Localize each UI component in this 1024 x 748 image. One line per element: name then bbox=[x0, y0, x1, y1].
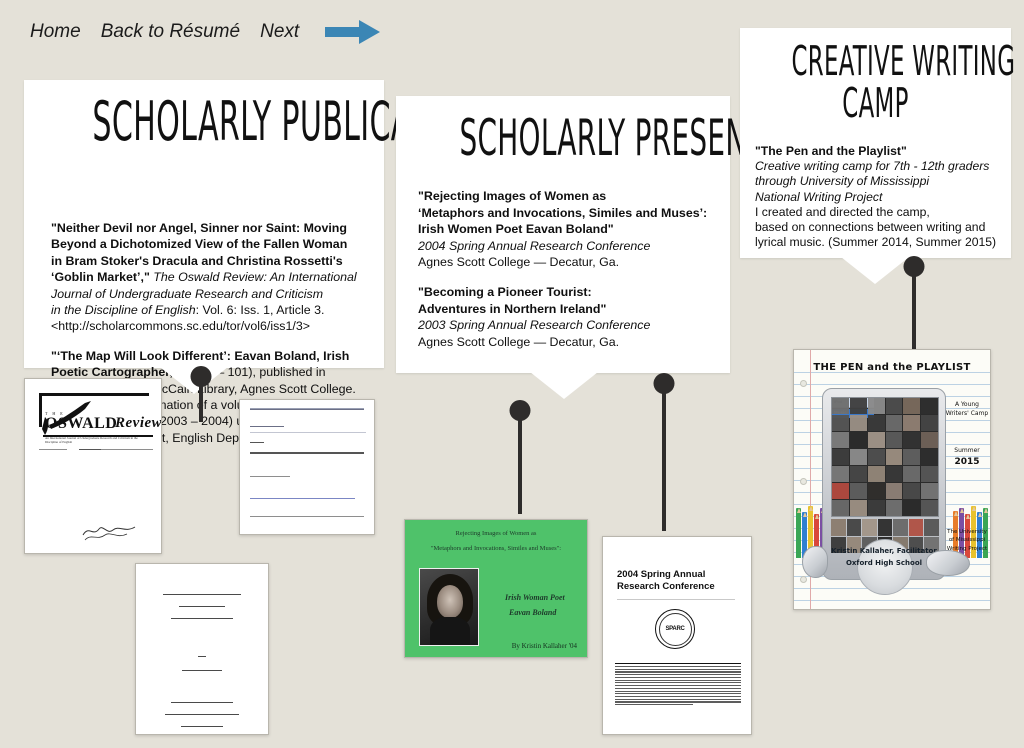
pub1-line5: Journal of Undergraduate Research and Cr… bbox=[51, 287, 323, 301]
thumbnail-presentation-slide[interactable]: Rejecting Images of Women as "Metaphors … bbox=[404, 519, 588, 658]
presentations-body: "Rejecting Images of Women as ‘Metaphors… bbox=[418, 188, 714, 350]
pres1-line4: 2004 Spring Annual Research Conference bbox=[418, 239, 650, 253]
pres1-line5: Agnes Scott College — Decatur, Ga. bbox=[418, 255, 619, 269]
pres2-line1: "Becoming a Pioneer Tourist: bbox=[418, 285, 592, 299]
slide-title-line2: "Metaphors and Invocations, Similes and … bbox=[405, 545, 587, 552]
slide-subject-line1: Irish Woman Poet bbox=[505, 593, 565, 602]
pub1-line2: Beyond a Dichotomized View of the Fallen… bbox=[51, 237, 347, 251]
sparc-logo-label: SPARC bbox=[656, 610, 694, 648]
pin-stem bbox=[518, 416, 522, 514]
portfolio-slide: Home Back to Résumé Next SCHOLARLY PUBLI… bbox=[0, 0, 1024, 748]
paper-punch-hole bbox=[800, 576, 807, 583]
poster-season: Summer bbox=[944, 446, 990, 455]
pin-presentation-slide bbox=[509, 400, 530, 512]
pub1-url[interactable]: <http://scholarcommons.sc.edu/tor/vol6/i… bbox=[51, 319, 310, 333]
camp-line3: through University of Mississippi bbox=[755, 174, 929, 188]
sparc-logo-icon: SPARC bbox=[655, 609, 695, 649]
pres1-line2: ‘Metaphors and Invocations, Similes and … bbox=[418, 206, 707, 220]
poster-sponsor: The University of Mississippi Writing Pr… bbox=[942, 528, 991, 553]
next-arrow-icon[interactable] bbox=[325, 18, 381, 46]
poster-sponsor-line1: The University bbox=[942, 528, 991, 536]
poster-title: THE PEN and the PLAYLIST bbox=[794, 362, 990, 373]
poster-facilitator: Kristin Kallaher, Facilitator bbox=[823, 547, 945, 555]
camp-title-line2: CAMP bbox=[791, 82, 959, 124]
pub1-line1: "Neither Devil nor Angel, Sinner nor Sai… bbox=[51, 221, 347, 235]
nav-link-back-to-resume[interactable]: Back to Résumé bbox=[101, 21, 240, 43]
ipod-screen: iPod Music bbox=[831, 397, 939, 517]
top-navigation: Home Back to Résumé Next bbox=[30, 18, 381, 46]
pres1-line1: "Rejecting Images of Women as bbox=[418, 189, 606, 203]
oswald-masthead-review: Review bbox=[115, 415, 162, 432]
pub1-line4-italic: The Oswald Review: An International bbox=[150, 270, 357, 284]
card-scholarly-presentations: SCHOLARLY PRESENTATIONS "Rejecting Image… bbox=[396, 96, 730, 373]
thumbnail-thesis-title-page[interactable] bbox=[135, 563, 269, 735]
conference-body-text bbox=[615, 663, 741, 707]
conference-rule bbox=[617, 599, 735, 600]
pres2-line4: Agnes Scott College — Decatur, Ga. bbox=[418, 335, 619, 349]
pin-publications bbox=[190, 366, 211, 422]
pres2-line2: Adventures in Northern Ireland" bbox=[418, 302, 606, 316]
poster-sponsor-line3: Writing Project bbox=[942, 545, 991, 553]
camp-title-line1: CREATIVE WRITING bbox=[791, 40, 959, 82]
camp-card-tail bbox=[841, 257, 909, 284]
nav-link-home[interactable]: Home bbox=[30, 21, 81, 43]
pub1-line4-bold: ‘Goblin Market’," bbox=[51, 270, 150, 284]
poster-year: 2015 bbox=[944, 456, 990, 470]
presentations-card-tail bbox=[530, 372, 598, 399]
conference-title-line2: Research Conference bbox=[617, 581, 715, 593]
pin-camp-poster bbox=[903, 256, 924, 346]
poster-sponsor-line2: of Mississippi bbox=[942, 536, 991, 544]
pub1-line6-italic: in the Discipline of English bbox=[51, 303, 196, 317]
paper-punch-hole bbox=[800, 478, 807, 485]
slide-subject-line2: Eavan Boland bbox=[509, 608, 556, 617]
pin-conference-program bbox=[653, 373, 674, 528]
pub1-line6-rest: : Vol. 6: Iss. 1, Article 3. bbox=[196, 303, 325, 317]
paper-punch-hole bbox=[800, 380, 807, 387]
thumbnail-conference-program[interactable]: 2004 Spring Annual Research Conference S… bbox=[602, 536, 752, 735]
camp-line1: "The Pen and the Playlist" bbox=[755, 144, 907, 158]
pres2-line3: 2003 Spring Annual Research Conference bbox=[418, 318, 650, 332]
headphone-right-icon bbox=[926, 550, 970, 576]
slide-portrait-photo bbox=[419, 568, 479, 646]
presentations-title: SCHOLARLY PRESENTATIONS bbox=[459, 112, 666, 164]
card-scholarly-publications: SCHOLARLY PUBLICATIONS "Neither Devil no… bbox=[24, 80, 384, 368]
slide-title-line1: Rejecting Images of Women as bbox=[405, 530, 587, 537]
portrait-face bbox=[437, 585, 463, 618]
camp-line2: Creative writing camp for 7th - 12th gra… bbox=[755, 159, 989, 173]
pub1-line3: in Bram Stoker's Dracula and Christina R… bbox=[51, 254, 343, 268]
headphone-left-icon bbox=[802, 546, 828, 578]
poster-tagline: A Young Writers' Camp bbox=[944, 400, 990, 418]
pres1-line3: Irish Women Poet Eavan Boland" bbox=[418, 222, 614, 236]
camp-body: "The Pen and the Playlist" Creative writ… bbox=[755, 144, 1001, 250]
thumbnail-camp-poster[interactable]: THE PEN and the PLAYLIST iPod Music bbox=[793, 349, 991, 610]
photo-collage bbox=[832, 398, 938, 516]
camp-line4: National Writing Project bbox=[755, 190, 882, 204]
oswald-subtitle: An International Journal of Undergraduat… bbox=[45, 437, 151, 445]
pin-stem bbox=[912, 272, 916, 350]
poster-tag-line1: A Young bbox=[944, 400, 990, 409]
ipod-graphic-icon: iPod Music Kristin Kallaher, Facilit bbox=[822, 388, 946, 580]
camp-line6: based on connections between writing and bbox=[755, 220, 985, 234]
thumbnail-article-first-page[interactable] bbox=[239, 399, 375, 535]
pin-stem bbox=[662, 389, 666, 531]
signature-icon bbox=[81, 521, 137, 541]
slide-credit: By Kristin Kallaher '04 bbox=[405, 642, 587, 650]
pin-stem bbox=[199, 382, 203, 422]
nav-link-next[interactable]: Next bbox=[260, 21, 299, 43]
camp-line7: lyrical music. (Summer 2014, Summer 2015… bbox=[755, 235, 996, 249]
conference-title-line1: 2004 Spring Annual bbox=[617, 569, 705, 581]
publications-title: SCHOLARLY PUBLICATIONS bbox=[92, 94, 315, 150]
poster-tag-line2: Writers' Camp bbox=[944, 409, 990, 418]
pub2-line1: "‘The Map Will Look Different’: Eavan Bo… bbox=[51, 349, 349, 363]
card-creative-writing-camp: CREATIVE WRITING CAMP "The Pen and the P… bbox=[740, 28, 1011, 258]
oswald-masthead-name: OSWALD bbox=[45, 415, 117, 433]
camp-line5: I created and directed the camp, bbox=[755, 205, 930, 219]
thumbnail-oswald-review-letter[interactable]: T H E OSWALD Review An International Jou… bbox=[24, 378, 162, 554]
